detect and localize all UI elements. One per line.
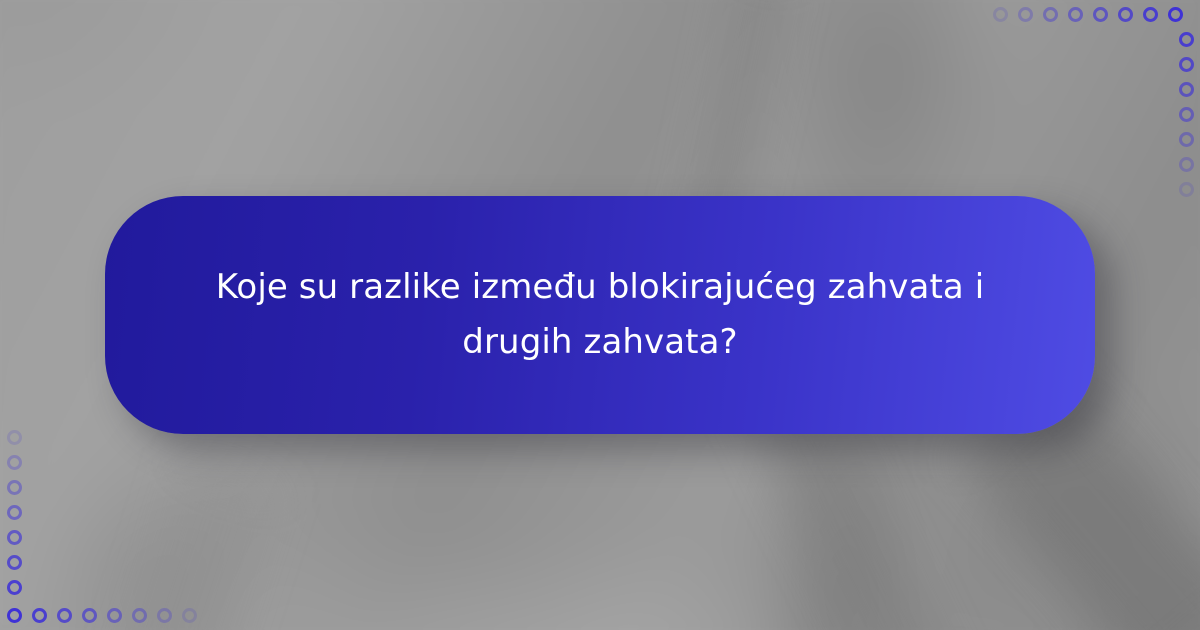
decorative-dot <box>1043 7 1058 22</box>
decorative-dot <box>107 608 122 623</box>
decorative-dot <box>1168 7 1183 22</box>
decorative-dot <box>82 608 97 623</box>
decorative-dot <box>1179 107 1194 122</box>
decorative-dot <box>7 505 22 520</box>
decorative-dot <box>57 608 72 623</box>
decorative-dot <box>1179 132 1194 147</box>
decorative-dot <box>993 7 1008 22</box>
decorative-dot <box>7 608 22 623</box>
decorative-dot <box>1179 182 1194 197</box>
decorative-dot <box>1179 82 1194 97</box>
decorative-dot <box>1018 7 1033 22</box>
decorative-dot <box>1143 7 1158 22</box>
decorative-dot <box>157 608 172 623</box>
question-text: Koje su razlike između blokirajućeg zahv… <box>215 260 985 370</box>
decorative-dot <box>1118 7 1133 22</box>
decorative-dot <box>7 580 22 595</box>
decorative-dot <box>32 608 47 623</box>
decorative-dot <box>132 608 147 623</box>
decorative-dot <box>1179 32 1194 47</box>
decorative-dot <box>7 430 22 445</box>
decorative-dot <box>7 555 22 570</box>
decorative-dot <box>1093 7 1108 22</box>
decorative-dot <box>7 455 22 470</box>
question-card: Koje su razlike između blokirajućeg zahv… <box>105 196 1095 434</box>
decorative-dot <box>182 608 197 623</box>
poster-canvas: Koje su razlike između blokirajućeg zahv… <box>0 0 1200 630</box>
decorative-dot <box>1068 7 1083 22</box>
decorative-dot <box>1179 157 1194 172</box>
decorative-dot <box>7 530 22 545</box>
decorative-dot <box>1179 57 1194 72</box>
decorative-dot <box>7 480 22 495</box>
